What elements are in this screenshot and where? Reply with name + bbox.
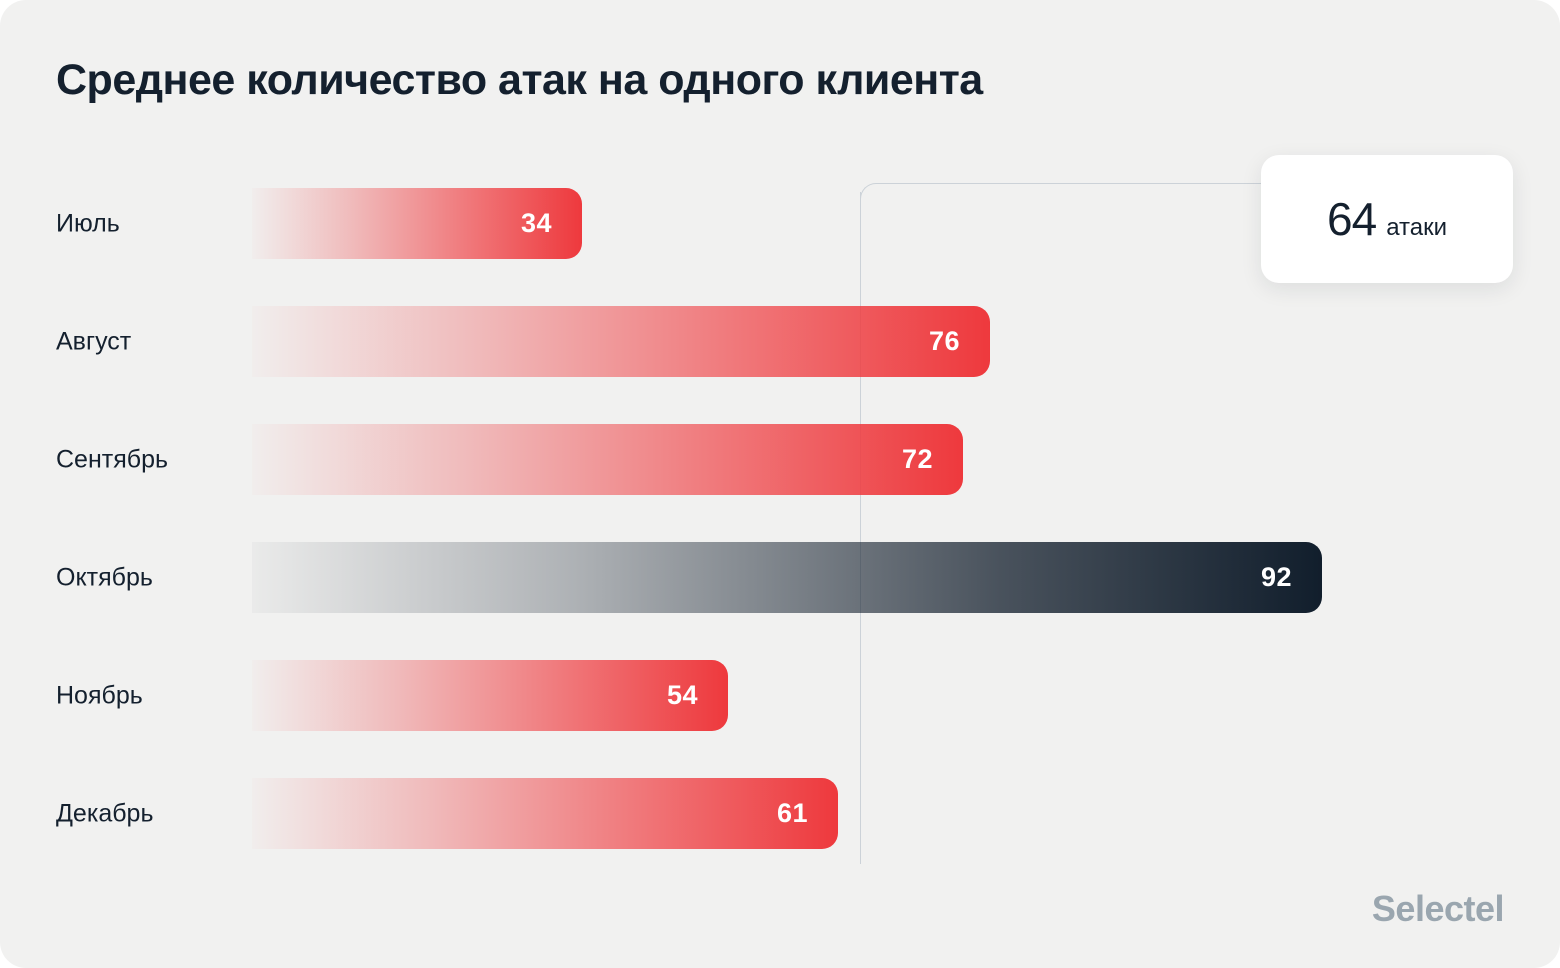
bar-row-october[interactable]: Октябрь 92 [0,542,1560,613]
bar-november[interactable]: 54 [252,660,728,731]
bar-value-december: 61 [777,798,808,829]
bar-december[interactable]: 61 [252,778,838,849]
bar-value-october: 92 [1261,562,1292,593]
bar-value-november: 54 [667,680,698,711]
reference-line [860,192,861,864]
bar-september[interactable]: 72 [252,424,963,495]
bar-label-october: Октябрь [56,563,153,592]
bar-value-july: 34 [521,208,552,239]
brand-logo: Selectel [1372,888,1504,930]
bar-value-august: 76 [929,326,960,357]
bar-row-august[interactable]: Август 76 [0,306,1560,377]
bar-july[interactable]: 34 [252,188,582,259]
bar-row-december[interactable]: Декабрь 61 [0,778,1560,849]
bar-label-september: Сентябрь [56,445,168,474]
bar-label-july: Июль [56,209,120,238]
value-tooltip: 64 атаки [1261,155,1513,283]
bar-row-november[interactable]: Ноябрь 54 [0,660,1560,731]
chart-card: Среднее количество атак на одного клиент… [0,0,1560,968]
bar-august[interactable]: 76 [252,306,990,377]
bar-row-september[interactable]: Сентябрь 72 [0,424,1560,495]
bar-value-september: 72 [902,444,933,475]
bar-label-august: Август [56,327,131,356]
bar-label-november: Ноябрь [56,681,143,710]
plot-area: Июль 34 Август 76 Сентябрь 72 Октябрь 92… [0,0,1560,968]
tooltip-value: 64 [1327,192,1376,246]
bar-label-december: Декабрь [56,799,153,828]
tooltip-unit: атаки [1386,214,1447,242]
bar-october[interactable]: 92 [252,542,1322,613]
tooltip-content: 64 атаки [1327,192,1447,246]
